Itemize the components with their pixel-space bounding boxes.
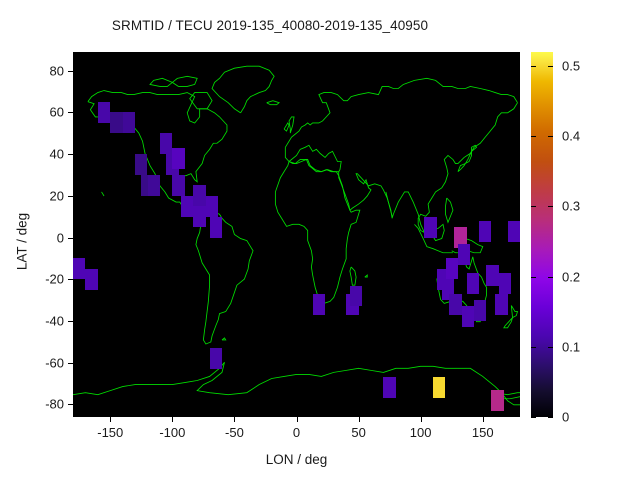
x-tick-label: 100: [410, 425, 432, 440]
x-tick-label: -150: [97, 425, 123, 440]
data-cell: [383, 377, 395, 398]
data-cell: [73, 258, 85, 279]
data-cell: [172, 148, 184, 169]
data-cell: [98, 102, 110, 123]
y-tick: [68, 238, 73, 239]
data-cell: [467, 273, 479, 294]
data-cell: [499, 273, 511, 294]
data-cell: [424, 217, 436, 238]
y-tick-label: -20: [45, 272, 64, 287]
data-cell: [486, 265, 498, 286]
data-cells-layer: [73, 52, 520, 417]
y-tick-label: -80: [45, 397, 64, 412]
colorbar-tick: [531, 417, 536, 418]
colorbar-tick-label: 0.1: [562, 339, 580, 354]
data-cell: [181, 196, 193, 217]
colorbar-tick: [531, 66, 536, 67]
x-tick: [172, 417, 173, 422]
data-cell: [160, 133, 172, 154]
y-tick: [68, 321, 73, 322]
colorbar-tick: [531, 136, 536, 137]
chart-root: SRMTID / TECU 2019-135_40080-2019-135_40…: [0, 0, 640, 480]
data-cell: [110, 112, 122, 133]
colorbar-tick: [531, 347, 536, 348]
y-tick: [68, 71, 73, 72]
colorbar-tick: [531, 277, 536, 278]
colorbar-gradient: [531, 52, 553, 417]
x-axis-title: LON / deg: [73, 452, 520, 467]
data-cell: [446, 258, 458, 279]
page-title: SRMTID / TECU 2019-135_40080-2019-135_40…: [0, 18, 540, 33]
data-cell: [193, 206, 205, 227]
data-cell: [123, 112, 135, 133]
colorbar-tick: [548, 417, 553, 418]
data-cell: [148, 175, 160, 196]
data-cell: [172, 175, 184, 196]
data-cell: [508, 221, 520, 242]
colorbar-tick: [531, 206, 536, 207]
data-cell: [433, 377, 445, 398]
x-tick: [297, 417, 298, 422]
data-cell: [206, 196, 218, 217]
data-cell: [135, 154, 147, 175]
x-tick: [359, 417, 360, 422]
x-tick-label: -100: [159, 425, 185, 440]
data-cell: [210, 348, 222, 369]
data-cell: [313, 294, 325, 315]
data-cell: [474, 300, 486, 321]
map-plot-area: [73, 52, 520, 417]
x-tick: [483, 417, 484, 422]
y-tick-label: 60: [50, 105, 64, 120]
data-cell: [210, 217, 222, 238]
data-cell: [350, 286, 362, 307]
y-tick-label: 80: [50, 63, 64, 78]
x-tick: [234, 417, 235, 422]
colorbar-tick-label: 0.4: [562, 129, 580, 144]
x-tick-label: 50: [351, 425, 365, 440]
y-tick: [68, 112, 73, 113]
x-tick-label: -50: [225, 425, 244, 440]
y-tick: [68, 196, 73, 197]
y-tick: [68, 279, 73, 280]
data-cell: [495, 294, 507, 315]
colorbar-tick-label: 0.3: [562, 199, 580, 214]
x-tick: [110, 417, 111, 422]
data-cell: [462, 306, 474, 327]
x-tick-label: 0: [293, 425, 300, 440]
y-tick: [68, 154, 73, 155]
y-axis-title: LAT / deg: [15, 162, 30, 322]
data-cell: [449, 294, 461, 315]
y-tick-label: 0: [57, 230, 64, 245]
y-tick-label: -60: [45, 355, 64, 370]
y-tick-label: -40: [45, 314, 64, 329]
y-tick-label: 20: [50, 188, 64, 203]
data-cell: [491, 390, 503, 411]
colorbar-tick: [548, 136, 553, 137]
colorbar-tick: [548, 206, 553, 207]
colorbar-tick: [548, 347, 553, 348]
y-tick-label: 40: [50, 147, 64, 162]
data-cell: [479, 221, 491, 242]
data-cell: [458, 244, 470, 265]
data-cell: [85, 269, 97, 290]
y-tick: [68, 363, 73, 364]
x-tick: [421, 417, 422, 422]
y-tick: [68, 404, 73, 405]
colorbar-tick: [548, 66, 553, 67]
colorbar-tick-label: 0.2: [562, 269, 580, 284]
colorbar-tick: [548, 277, 553, 278]
data-cell: [193, 185, 205, 206]
colorbar: [531, 52, 553, 417]
x-tick-label: 150: [472, 425, 494, 440]
colorbar-tick-label: 0: [562, 410, 569, 425]
colorbar-tick-label: 0.5: [562, 59, 580, 74]
